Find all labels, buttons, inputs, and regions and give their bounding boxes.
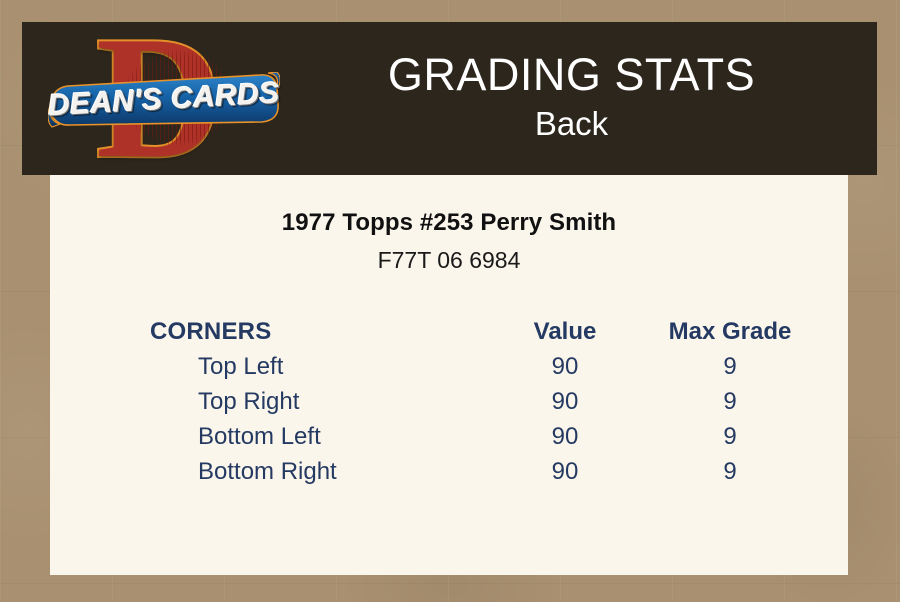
table-row: Bottom Left 90 9 (150, 419, 810, 454)
row-label: Bottom Right (150, 454, 480, 489)
table-header: CORNERS Value Max Grade (150, 314, 810, 349)
row-label: Top Left (150, 349, 480, 384)
row-max-grade: 9 (650, 419, 810, 454)
page-title: GRADING STATS (284, 49, 859, 101)
column-header-corners: CORNERS (150, 314, 480, 349)
table-row: Top Right 90 9 (150, 384, 810, 419)
table-body: Top Left 90 9 Top Right 90 9 Bottom Left… (150, 349, 810, 489)
row-max-grade: 9 (650, 454, 810, 489)
column-header-value: Value (480, 314, 650, 349)
row-value: 90 (480, 419, 650, 454)
row-value: 90 (480, 454, 650, 489)
table-header-row: CORNERS Value Max Grade (150, 314, 810, 349)
table-row: Bottom Right 90 9 (150, 454, 810, 489)
grading-stats-table: CORNERS Value Max Grade Top Left 90 9 To… (150, 314, 810, 489)
header-title-block: GRADING STATS Back (284, 49, 877, 149)
card-title: 1977 Topps #253 Perry Smith (50, 209, 848, 237)
header-bar: D (22, 22, 877, 175)
row-max-grade: 9 (650, 349, 810, 384)
row-value: 90 (480, 384, 650, 419)
deans-cards-logo[interactable]: D (22, 22, 284, 175)
table-row: Top Left 90 9 (150, 349, 810, 384)
grading-stats-card: D (0, 0, 900, 602)
row-label: Bottom Left (150, 419, 480, 454)
logo-artwork: D (48, 26, 280, 171)
row-label: Top Right (150, 384, 480, 419)
row-max-grade: 9 (650, 384, 810, 419)
page-subtitle: Back (284, 103, 859, 145)
card-serial-number: F77T 06 6984 (50, 247, 848, 274)
column-header-max-grade: Max Grade (650, 314, 810, 349)
row-value: 90 (480, 349, 650, 384)
content-panel: 1977 Topps #253 Perry Smith F77T 06 6984… (50, 175, 848, 575)
